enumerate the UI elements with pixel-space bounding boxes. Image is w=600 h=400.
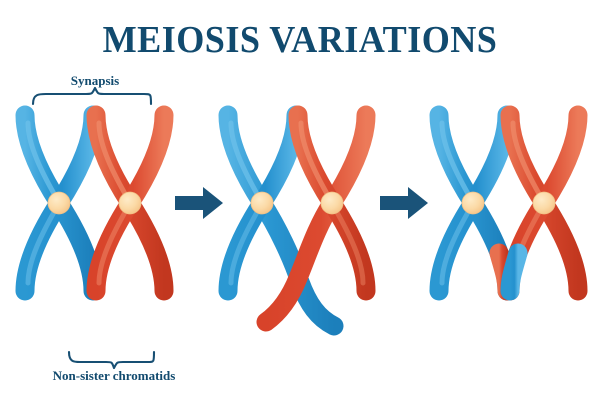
chromosome-illustration <box>0 0 600 400</box>
centromere <box>321 192 343 214</box>
recombinant-blue-segment <box>510 253 518 291</box>
stage1-red-chromosome[interactable] <box>96 115 164 291</box>
centromere <box>119 192 141 214</box>
synapsis-brace <box>33 88 151 104</box>
centromere <box>533 192 555 214</box>
centromere <box>462 192 484 214</box>
arrow-stage2-to-stage3[interactable] <box>380 187 428 219</box>
diagram-canvas: MEIOSIS VARIATIONS Synapsis Non-sister c… <box>0 0 600 400</box>
arrow-stage1-to-stage2[interactable] <box>175 187 223 219</box>
stage-2-crossing-over[interactable] <box>228 115 366 326</box>
stage-3-recombinant[interactable] <box>439 115 578 291</box>
stage3-blue-chromosome[interactable] <box>439 115 507 291</box>
non-sister-chromatids-brace <box>69 352 154 368</box>
stage1-blue-chromosome[interactable] <box>25 115 93 291</box>
stage-1-synapsis[interactable] <box>25 88 164 368</box>
centromere <box>251 192 273 214</box>
centromere <box>48 192 70 214</box>
stage3-red-chromosome[interactable] <box>510 115 578 291</box>
